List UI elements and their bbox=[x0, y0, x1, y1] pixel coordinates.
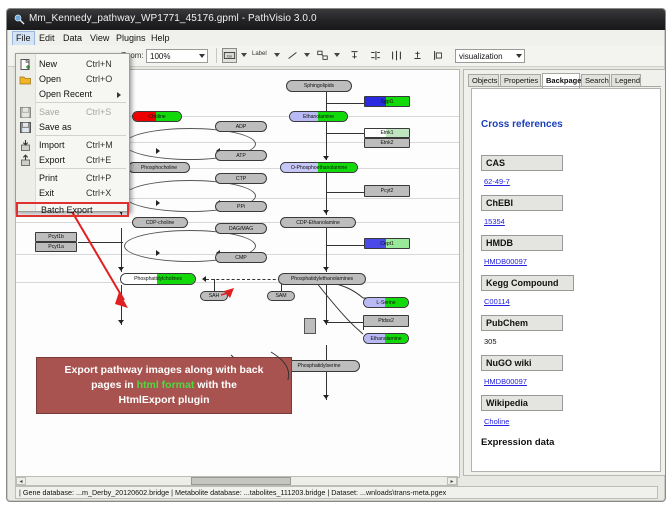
menu-item-print[interactable]: PrintCtrl+P bbox=[16, 171, 129, 186]
menu-separator bbox=[36, 102, 126, 103]
chevron-down-icon bbox=[516, 54, 522, 58]
menu-item-accelerator: Ctrl+P bbox=[86, 173, 111, 183]
pathway-node-ptdss2[interactable]: Ptdss2 bbox=[363, 315, 409, 327]
xref-value-wikipedia[interactable]: Choline bbox=[484, 417, 509, 426]
menu-item-export[interactable]: ExportCtrl+E bbox=[16, 153, 129, 168]
menu-item-label: Open bbox=[39, 74, 61, 84]
xref-source-wikipedia: Wikipedia bbox=[481, 395, 563, 411]
xref-value-kegg[interactable]: C00114 bbox=[484, 297, 510, 306]
xref-source-chebi: ChEBI bbox=[481, 195, 563, 211]
pathway-node-pcyt1a[interactable]: Pcyt1a bbox=[35, 242, 77, 252]
submenu-arrow-icon bbox=[117, 92, 121, 98]
node-label: O-Phosphoethanolamine bbox=[291, 165, 347, 171]
menu-item-open[interactable]: OpenCtrl+O bbox=[16, 72, 129, 87]
pathway-node-etnk1[interactable]: Etnk1 bbox=[364, 128, 410, 138]
zoom-combo[interactable]: 100% bbox=[146, 49, 208, 63]
node-label: Etnk2 bbox=[380, 140, 393, 146]
node-label: Cept1 bbox=[380, 241, 394, 247]
svg-text:Gn: Gn bbox=[227, 54, 232, 58]
canvas-hscrollbar[interactable]: ◂ ▸ bbox=[15, 476, 458, 486]
menu-item-exit[interactable]: ExitCtrl+X bbox=[16, 186, 129, 201]
menu-item-label: Export bbox=[39, 155, 65, 165]
pathway-node-choline[interactable]: Choline bbox=[132, 111, 182, 122]
file-menu-dropdown[interactable]: NewCtrl+NOpenCtrl+OOpen RecentSaveCtrl+S… bbox=[15, 53, 130, 212]
pathway-node-sphingolipids[interactable]: Sphingolipids bbox=[286, 80, 352, 92]
menu-item-accelerator: Ctrl+O bbox=[86, 74, 112, 84]
node-label: PPi bbox=[237, 204, 245, 210]
annotation-text: Export pathway images along with back pa… bbox=[59, 363, 270, 408]
xref-source-pubchem: PubChem bbox=[481, 315, 563, 331]
menu-item-label: Import bbox=[39, 140, 65, 150]
pathvisio-window: Mm_Kennedy_pathway_WP1771_45176.gpml - P… bbox=[6, 8, 666, 502]
annotation-line-1: Export pathway images along with back bbox=[65, 364, 264, 376]
line-dropdown-arrow-icon[interactable] bbox=[304, 53, 310, 57]
node-label: Ethanolamine bbox=[303, 114, 334, 120]
export-icon bbox=[19, 154, 32, 167]
node-label: SAH bbox=[209, 293, 220, 299]
node-label: CDP-choline bbox=[146, 220, 175, 226]
node-label: Phosphocholine bbox=[141, 165, 177, 171]
menu-view[interactable]: View bbox=[86, 31, 113, 45]
menu-item-label: Save bbox=[39, 107, 60, 117]
menu-separator bbox=[36, 135, 126, 136]
pathway-node-cdp-choline[interactable]: CDP-choline bbox=[132, 217, 188, 228]
pathway-node-cmp[interactable]: CMP bbox=[215, 252, 267, 263]
folder-open-icon bbox=[19, 73, 32, 86]
interaction-dropdown-arrow-icon[interactable] bbox=[334, 53, 340, 57]
pathway-node-phosphatidylethanolamines[interactable]: Phosphatidylethanolamines bbox=[278, 273, 366, 285]
menu-separator bbox=[36, 168, 126, 169]
menu-help[interactable]: Help bbox=[147, 31, 174, 45]
toolbar-separator bbox=[216, 48, 217, 63]
menu-item-accelerator: Ctrl+N bbox=[86, 59, 112, 69]
node-label: Choline bbox=[148, 114, 165, 120]
menu-item-import[interactable]: ImportCtrl+M bbox=[16, 138, 129, 153]
pathway-node-sam[interactable]: SAM bbox=[267, 291, 295, 301]
datanode-tool-icon[interactable]: Gn bbox=[222, 48, 237, 63]
node-label: L-Serine bbox=[376, 300, 395, 306]
same-height-icon[interactable] bbox=[431, 48, 446, 63]
hscroll-thumb[interactable] bbox=[191, 477, 291, 485]
xref-value-hmdb[interactable]: HMDB00097 bbox=[484, 257, 527, 266]
xref-source-hmdb: HMDB bbox=[481, 235, 563, 251]
node-label: SAM bbox=[275, 293, 286, 299]
pathway-node-cept1[interactable]: Cept1 bbox=[364, 238, 410, 249]
pathway-node-sah[interactable]: SAH bbox=[200, 291, 228, 301]
menu-item-label: Exit bbox=[39, 188, 54, 198]
label-tool-label[interactable]: Label bbox=[252, 51, 267, 57]
menu-item-open-recent[interactable]: Open Recent bbox=[16, 87, 129, 102]
align-center-icon[interactable] bbox=[389, 48, 404, 63]
menu-item-save-as[interactable]: Save as bbox=[16, 120, 129, 135]
menu-item-accelerator: Ctrl+S bbox=[86, 107, 111, 117]
node-label: CDP-Ethanolamine bbox=[296, 220, 340, 226]
menu-item-label: Open Recent bbox=[39, 89, 92, 99]
node-label: DAG/MAG bbox=[229, 226, 253, 232]
node-label: CTP bbox=[236, 176, 246, 182]
pathway-node-ethanolamine[interactable]: Ethanolamine bbox=[363, 333, 409, 344]
status-bar: | Gene database: ...m_Derby_20120602.bri… bbox=[15, 486, 658, 499]
node-label: Etnk1 bbox=[380, 130, 393, 136]
side-panel: Objects Properties Backpage Search Legen… bbox=[463, 69, 666, 476]
pathway-node-phosphocholine[interactable]: Phosphocholine bbox=[128, 162, 190, 173]
menu-item-accelerator: Ctrl+E bbox=[86, 155, 111, 165]
align-top-icon[interactable] bbox=[347, 48, 362, 63]
node-label: Ptdss2 bbox=[378, 318, 394, 324]
interaction-tool-icon[interactable] bbox=[315, 48, 330, 63]
menu-data[interactable]: Data bbox=[59, 31, 86, 45]
node-label: Sgpl1 bbox=[380, 99, 393, 105]
new-file-icon bbox=[19, 58, 32, 71]
annotation-highlight: html format bbox=[137, 379, 195, 391]
pathway-node-phosphatidylcholines[interactable]: Phosphatidylcholines bbox=[120, 273, 196, 285]
node-label: Phosphatidylcholines bbox=[134, 276, 182, 282]
node-label: ADP bbox=[236, 124, 247, 130]
window-title: Mm_Kennedy_pathway_WP1771_45176.gpml - P… bbox=[29, 13, 317, 24]
menu-plugins[interactable]: Plugins bbox=[112, 31, 150, 45]
import-icon bbox=[19, 139, 32, 152]
backpage-content[interactable]: Cross references CAS 62-49-7 ChEBI 15354… bbox=[471, 88, 661, 472]
align-left-icon[interactable] bbox=[368, 48, 383, 63]
pathway-node-adp[interactable]: ADP bbox=[215, 121, 267, 132]
pathway-node-l-serine[interactable]: L-Serine bbox=[363, 297, 409, 308]
menu-item-accelerator: Ctrl+X bbox=[86, 188, 111, 198]
application-window: Mm_Kennedy_pathway_WP1771_45176.gpml - P… bbox=[0, 0, 670, 509]
node-label: CMP bbox=[235, 255, 246, 261]
pathway-node-pcyt2[interactable]: Pcyt2 bbox=[364, 185, 410, 197]
xref-source-kegg: Kegg Compound bbox=[481, 275, 574, 291]
node-label: Sphingolipids bbox=[304, 83, 334, 89]
xref-value-cas[interactable]: 62-49-7 bbox=[484, 177, 510, 186]
node-label: Phosphatidylserine bbox=[298, 363, 341, 369]
node-label: Pcyt1b bbox=[48, 234, 64, 240]
label-dropdown-arrow-icon[interactable] bbox=[274, 53, 280, 57]
menu-bar: File Edit Data View Plugins Help bbox=[8, 30, 664, 46]
menu-file[interactable]: File bbox=[12, 31, 35, 46]
visualization-combo[interactable]: visualization bbox=[455, 49, 525, 63]
node-label: Ethanolamine bbox=[370, 336, 401, 342]
node-label: ATP bbox=[236, 153, 246, 159]
expression-data-heading: Expression data bbox=[481, 437, 554, 448]
menu-edit[interactable]: Edit bbox=[35, 31, 59, 45]
pathway-node-o-phosphoethanolamine[interactable]: O-Phosphoethanolamine bbox=[280, 162, 358, 173]
menu-item-label: New bbox=[39, 59, 57, 69]
menu-item-batch-export[interactable]: Batch Export bbox=[16, 202, 129, 217]
node-label: Phosphatidylethanolamines bbox=[291, 276, 353, 282]
annotation-line-2b: with the bbox=[194, 379, 237, 391]
pathway-node-atp[interactable]: ATP bbox=[215, 150, 267, 161]
node-label: Pcyt1a bbox=[48, 244, 64, 250]
pathway-node-ctp[interactable]: CTP bbox=[215, 173, 267, 184]
chevron-down-icon bbox=[199, 54, 205, 58]
pathway-node-ethanolamine[interactable]: Ethanolamine bbox=[289, 111, 348, 122]
annotation-callout: Export pathway images along with back pa… bbox=[36, 357, 292, 414]
menu-item-label: Print bbox=[39, 173, 58, 183]
pathvisio-icon bbox=[14, 14, 25, 25]
xref-value-chebi[interactable]: 15354 bbox=[484, 217, 505, 226]
pathway-node-pcyt1b[interactable]: Pcyt1b bbox=[35, 232, 77, 242]
menu-item-new[interactable]: NewCtrl+N bbox=[16, 57, 129, 72]
xref-value-nugo[interactable]: HMDB00097 bbox=[484, 377, 527, 386]
save-as-icon bbox=[19, 121, 32, 134]
title-bar: Mm_Kennedy_pathway_WP1771_45176.gpml - P… bbox=[7, 9, 665, 30]
menu-item-label: Batch Export bbox=[41, 205, 93, 215]
xref-source-cas: CAS bbox=[481, 155, 563, 171]
xref-source-nugo: NuGO wiki bbox=[481, 355, 563, 371]
line-tool-icon[interactable] bbox=[285, 48, 300, 63]
annotation-line-2a: pages in bbox=[91, 379, 137, 391]
save-icon bbox=[19, 106, 32, 119]
cross-references-heading: Cross references bbox=[481, 119, 563, 130]
pathway-node-etnk2[interactable]: Etnk2 bbox=[364, 138, 410, 148]
same-width-icon[interactable] bbox=[410, 48, 425, 63]
node-label: Pcyt2 bbox=[381, 188, 394, 194]
pathway-node-cdp-ethanolamine[interactable]: CDP-Ethanolamine bbox=[280, 217, 356, 228]
menu-item-save: SaveCtrl+S bbox=[16, 105, 129, 120]
datanode-dropdown-arrow-icon[interactable] bbox=[241, 53, 247, 57]
xref-value-pubchem: 305 bbox=[484, 337, 497, 346]
pathway-node-sgpl1[interactable]: Sgpl1 bbox=[364, 96, 410, 107]
pathway-node-dag-mag[interactable]: DAG/MAG bbox=[215, 223, 267, 234]
annotation-line-3: HtmlExport plugin bbox=[119, 394, 210, 406]
scroll-left-icon[interactable]: ◂ bbox=[16, 477, 26, 485]
menu-item-accelerator: Ctrl+M bbox=[86, 140, 113, 150]
pathway-node-ppi[interactable]: PPi bbox=[215, 201, 267, 212]
scroll-right-icon[interactable]: ▸ bbox=[447, 477, 457, 485]
menu-item-label: Save as bbox=[39, 122, 72, 132]
